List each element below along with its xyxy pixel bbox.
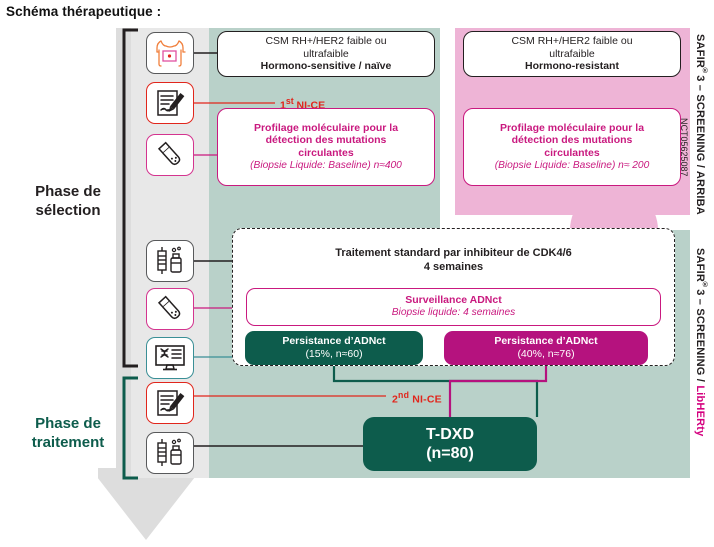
persistence-box-green: Persistance d’ADNct (15%, n≈60) xyxy=(245,331,423,365)
treatment-title-line-2: 4 semaines xyxy=(232,260,675,274)
treatment-title: Traitement standard par inhibiteur de CD… xyxy=(232,246,675,275)
profiling-box-left: Profilage moléculaire pour la détection … xyxy=(217,108,435,186)
second-nice-label: 2nd NI-CE xyxy=(392,390,442,406)
patient-line-2: ultrafaible xyxy=(549,48,595,61)
phase-selection-line-2: sélection xyxy=(14,202,122,221)
study-label-libherty: SAFIR®3 – SCREENING / LibHERty xyxy=(694,248,709,436)
patient-line-1: CSM RH+/HER2 faible ou xyxy=(265,35,386,48)
consent-form-icon xyxy=(146,382,194,424)
profiling-line-3: circulantes xyxy=(298,147,353,160)
drug-sample-size: (n=80) xyxy=(426,444,474,463)
profiling-line-2: détection des mutations xyxy=(512,134,633,147)
patient-line-1: CSM RH+/HER2 faible ou xyxy=(511,35,632,48)
treatment-title-line-1: Traitement standard par inhibiteur de CD… xyxy=(232,246,675,260)
drug-box-tdxd: T-DXD (n=80) xyxy=(363,417,537,471)
profiling-line-1: Profilage moléculaire pour la xyxy=(500,122,644,135)
nct-number: NCT05625087 xyxy=(679,118,689,177)
phase-selection-line-1: Phase de xyxy=(14,183,122,202)
profiling-line-2: détection des mutations xyxy=(266,134,387,147)
patient-line-3: Hormono-resistant xyxy=(525,60,619,73)
profiling-line-4: (Biopsie Liquide: Baseline) n≈ 200 xyxy=(495,160,650,172)
study-label-arriba: SAFIR®3 – SCREENING / ARRIBA xyxy=(694,34,709,215)
surveillance-title: Surveillance ADNct xyxy=(405,294,501,307)
persistence-green-line-1: Persistance d’ADNct xyxy=(282,335,385,348)
blood-tube-icon xyxy=(146,134,194,176)
persistence-pink-line-2: (40%, n≈76) xyxy=(517,348,574,361)
profiling-line-1: Profilage moléculaire pour la xyxy=(254,122,398,135)
persistence-pink-line-1: Persistance d’ADNct xyxy=(494,335,597,348)
patient-box-hormono-sensitive: CSM RH+/HER2 faible ou ultrafaible Hormo… xyxy=(217,31,435,77)
profiling-box-right: Profilage moléculaire pour la détection … xyxy=(463,108,681,186)
drug-name: T-DXD xyxy=(426,425,474,444)
profiling-line-3: circulantes xyxy=(544,147,599,160)
patient-line-3: Hormono-sensitive / naïve xyxy=(261,60,392,73)
patient-box-hormono-resistant: CSM RH+/HER2 faible ou ultrafaible Hormo… xyxy=(463,31,681,77)
persistence-green-line-2: (15%, n≈60) xyxy=(305,348,362,361)
phase-label-selection: Phase de sélection xyxy=(14,183,122,221)
syringe-vial-icon xyxy=(146,432,194,474)
blood-tube-icon xyxy=(146,288,194,330)
phase-label-treatment: Phase de traitement xyxy=(14,415,122,453)
surveillance-subtitle: Biopsie liquide: 4 semaines xyxy=(392,307,515,319)
phase-treatment-line-2: traitement xyxy=(14,434,122,453)
patient-line-2: ultrafaible xyxy=(303,48,349,61)
diagram-root: Schéma thérapeutique : CSM RH+/HER2 faib… xyxy=(0,0,714,547)
dna-sequencing-screen-icon xyxy=(146,337,194,379)
syringe-vial-icon xyxy=(146,240,194,282)
patient-torso-tumor-icon xyxy=(146,32,194,74)
persistence-box-pink: Persistance d’ADNct (40%, n≈76) xyxy=(444,331,648,365)
profiling-line-4: (Biopsie Liquide: Baseline) n≈400 xyxy=(250,160,402,172)
consent-form-icon xyxy=(146,82,194,124)
phase-treatment-line-1: Phase de xyxy=(14,415,122,434)
surveillance-box: Surveillance ADNct Biopsie liquide: 4 se… xyxy=(246,288,661,326)
